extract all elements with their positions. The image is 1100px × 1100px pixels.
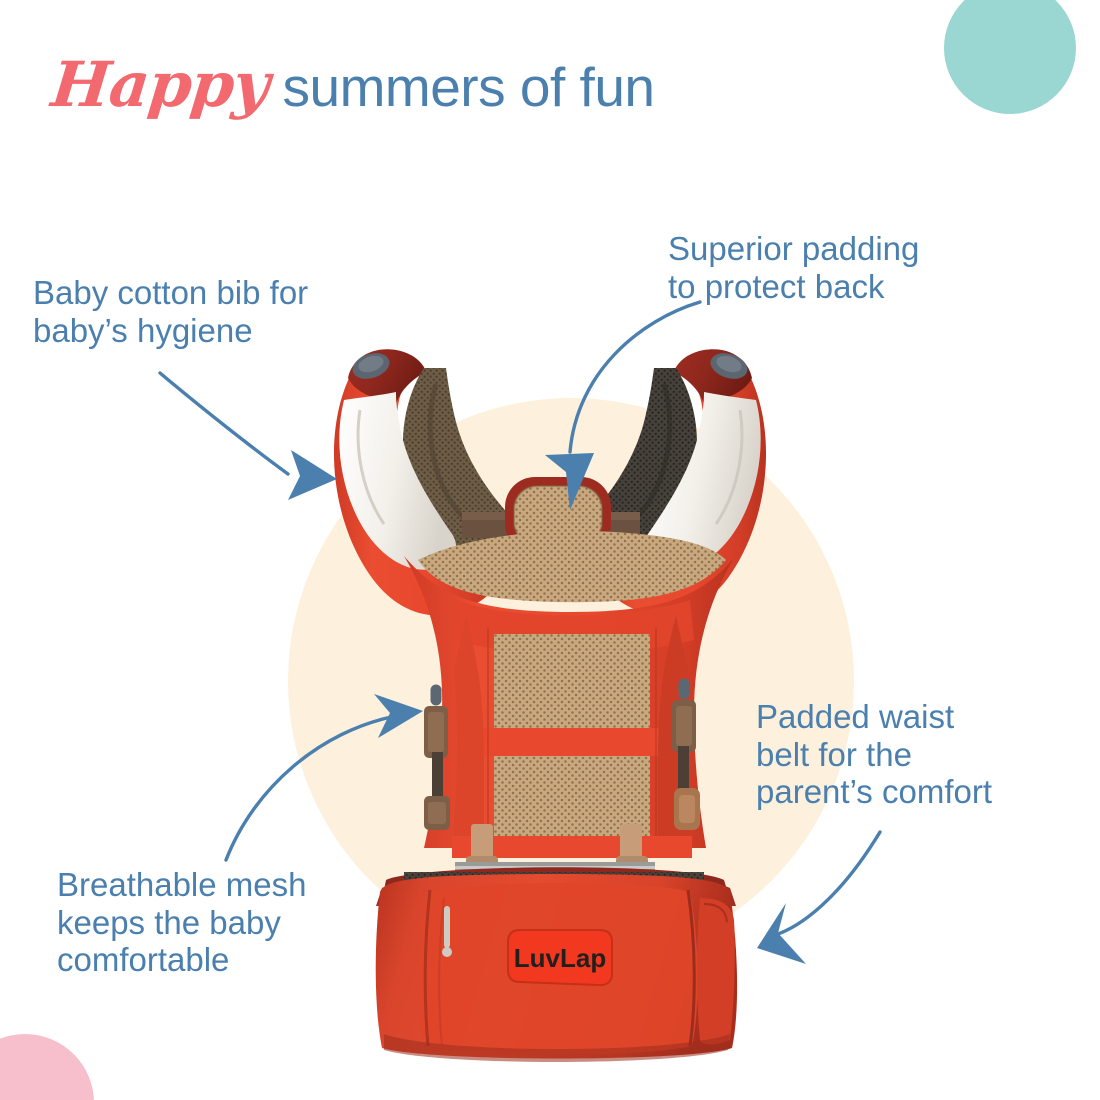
- brand-patch: LuvLap: [508, 930, 612, 985]
- infographic-canvas: Happysummers of fun: [0, 0, 1100, 1100]
- callout-baby-cotton-bib: Baby cotton bib for baby’s hygiene: [33, 274, 308, 349]
- callout-breathable-mesh: Breathable mesh keeps the baby comfortab…: [57, 866, 306, 979]
- hip-seat-side-pocket: [697, 898, 735, 1045]
- brand-logo-text: LuvLap: [514, 943, 606, 973]
- body-cross-band: [470, 728, 678, 756]
- callout-superior-padding: Superior padding to protect back: [668, 230, 919, 305]
- hip-seat-waist-belt: LuvLap: [376, 867, 737, 1062]
- callout-padded-waist-belt: Padded waist belt for the parent’s comfo…: [756, 698, 992, 811]
- mesh-panel-upper: [494, 634, 650, 732]
